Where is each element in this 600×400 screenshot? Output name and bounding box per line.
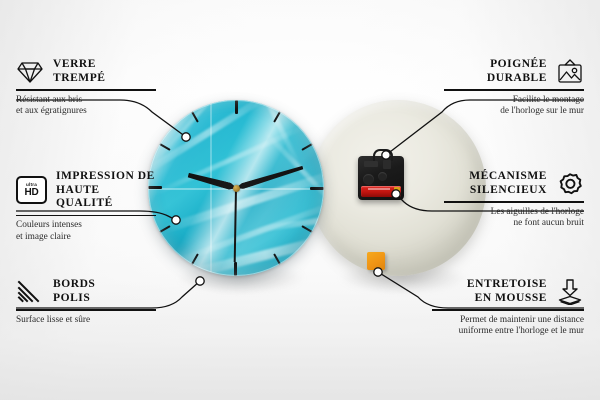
movement-slot-secondary xyxy=(383,160,391,169)
feature-header: MÉCANISME SILENCIEUX xyxy=(444,170,584,197)
feature-header: VERRE TREMPÉ xyxy=(16,58,156,85)
feature-title: ENTRETOISE EN MOUSSE xyxy=(467,278,547,305)
foam-spacer xyxy=(367,252,385,270)
clock-glass-edge xyxy=(148,100,324,276)
diamond-icon xyxy=(16,59,44,85)
feature-subtitle: Résistant aux bris et aux égratignures xyxy=(16,95,156,118)
feature-subtitle: Facilite le montage de l'horloge sur le … xyxy=(444,95,584,118)
battery-positive-cap xyxy=(394,187,400,196)
battery xyxy=(361,186,401,197)
feature-mecanisme-silencieux: MÉCANISME SILENCIEUX Les aiguilles de l'… xyxy=(444,170,584,229)
feature-entretoise-en-mousse: ENTRETOISE EN MOUSSE Permet de maintenir… xyxy=(432,278,584,337)
feature-title: POIGNÉE DURABLE xyxy=(487,58,547,85)
feature-subtitle: Permet de maintenir une distance uniform… xyxy=(432,315,584,338)
feature-divider xyxy=(444,201,584,203)
hanging-picture-frame-icon xyxy=(556,59,584,85)
feature-subtitle: Surface lisse et sûre xyxy=(16,315,156,326)
feature-impression-haute-qualite: ultra HD IMPRESSION DE HAUTE QUALITÉ Cou… xyxy=(16,170,156,243)
feature-divider xyxy=(16,89,156,91)
feature-title: VERRE TREMPÉ xyxy=(53,58,106,85)
feature-subtitle: Les aiguilles de l'horloge ne font aucun… xyxy=(444,207,584,230)
feature-header: POIGNÉE DURABLE xyxy=(444,58,584,85)
feature-poignee-durable: POIGNÉE DURABLE Facilite le montage de l… xyxy=(444,58,584,117)
clock-front-face xyxy=(148,100,324,276)
movement-slot xyxy=(364,161,378,167)
feature-divider xyxy=(16,215,156,217)
feature-divider xyxy=(16,309,156,311)
feature-header: ultra HD IMPRESSION DE HAUTE QUALITÉ xyxy=(16,170,156,211)
feature-title: MÉCANISME SILENCIEUX xyxy=(469,170,547,197)
battery-label-stripe xyxy=(368,188,390,190)
feature-bords-polis: BORDS POLIS Surface lisse et sûre xyxy=(16,278,156,326)
feature-divider xyxy=(444,89,584,91)
feature-title: BORDS POLIS xyxy=(53,278,95,305)
gear-icon xyxy=(556,171,584,197)
feature-subtitle: Couleurs intenses et image claire xyxy=(16,220,156,243)
feature-verre-trempe: VERRE TREMPÉ Résistant aux bris et aux é… xyxy=(16,58,156,117)
arrow-onto-layers-icon xyxy=(556,279,584,305)
clock-movement-module xyxy=(358,156,404,200)
feature-title: IMPRESSION DE HAUTE QUALITÉ xyxy=(56,170,156,211)
ultra-hd-badge-icon: ultra HD xyxy=(16,176,47,204)
polished-edge-lines-icon xyxy=(16,279,44,305)
feature-divider xyxy=(432,309,584,311)
infographic-canvas: VERRE TREMPÉ Résistant aux bris et aux é… xyxy=(0,0,600,400)
feature-header: ENTRETOISE EN MOUSSE xyxy=(432,278,584,305)
feature-header: BORDS POLIS xyxy=(16,278,156,305)
movement-dial-left xyxy=(363,174,374,185)
movement-dial-right xyxy=(378,172,387,181)
